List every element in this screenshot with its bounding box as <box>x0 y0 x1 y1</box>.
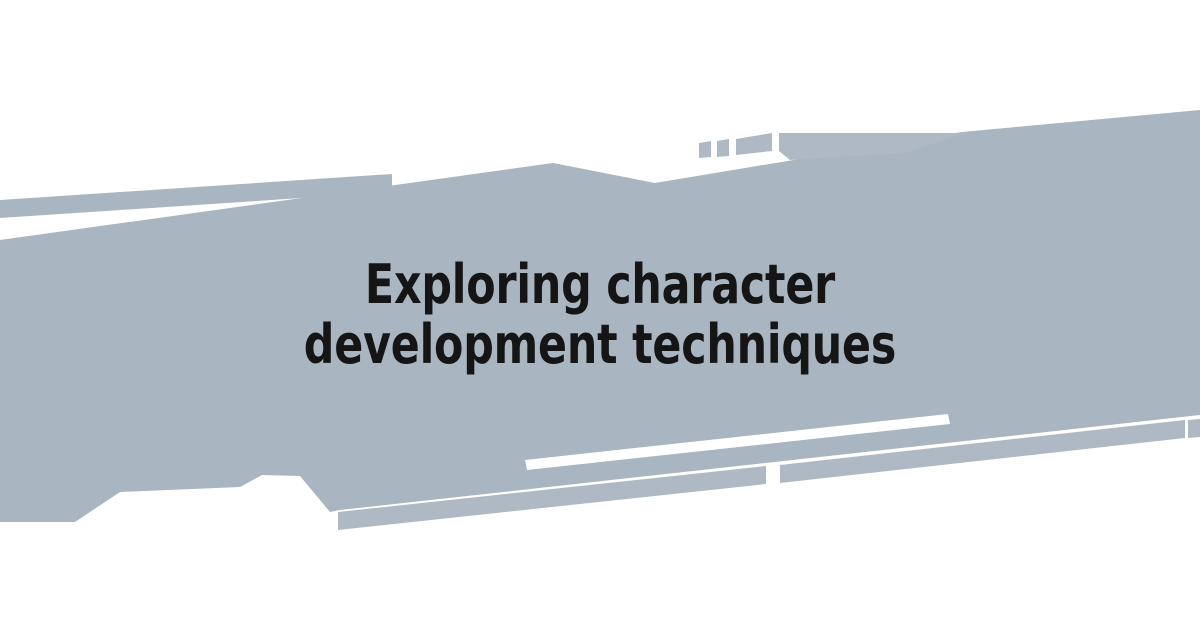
top-right-dash-small-1 <box>699 141 711 158</box>
decorative-background-art <box>0 0 1200 630</box>
banner-card: Exploring character development techniqu… <box>0 0 1200 630</box>
bottom-right-dash <box>1188 419 1200 438</box>
top-right-dash-small-2 <box>717 139 729 157</box>
